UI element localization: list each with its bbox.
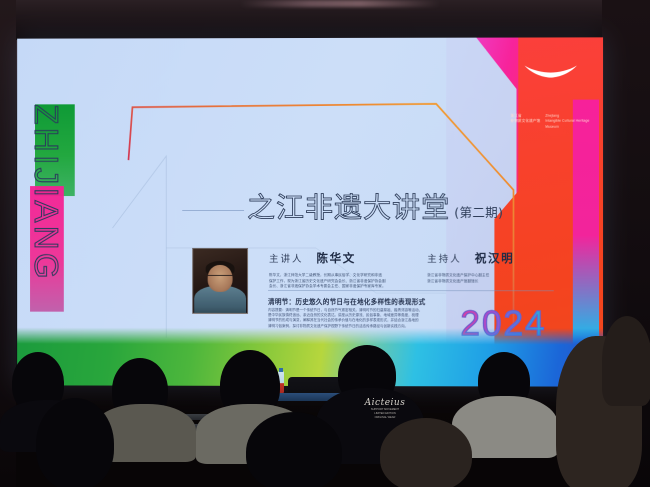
museum-logo-icon xyxy=(523,63,579,81)
title-rule xyxy=(182,210,244,211)
speaker-name: 陈华文 xyxy=(317,250,356,266)
audience-shoulders xyxy=(196,404,308,464)
audience-shoulders xyxy=(92,404,196,462)
audience-head-foreground xyxy=(246,412,342,487)
museum-logo-cn: 浙江省 非物质文化遗产馆 xyxy=(510,114,540,129)
museum-logo-text: 浙江省 非物质文化遗产馆 Zhejiang Intangible Cultura… xyxy=(510,114,586,129)
speaker-portrait xyxy=(192,248,248,314)
projection-screen: ZHIJIANG 浙江省 非物质文化遗产馆 Zhejiang Intangibl… xyxy=(17,37,603,386)
museum-en-line: Intangible Cultural Heritage xyxy=(545,119,589,123)
vertical-wordmark: ZHIJIANG xyxy=(29,100,69,357)
museum-en-line: Zhejiang xyxy=(545,114,589,118)
shirt-sub-line: LIMITED EDITION xyxy=(355,412,415,416)
title-suffix: (第二期) xyxy=(454,202,503,221)
audience-head-foreground xyxy=(380,418,472,487)
audience-head-foreground xyxy=(36,398,114,487)
left-wall xyxy=(0,0,16,487)
speaker-bio: 陈华文，浙江师范大学二级教授，长期从事民俗学、文化学研究和非遗 保护工作，现为浙… xyxy=(269,273,419,290)
museum-en-line: Museum xyxy=(545,124,589,128)
vertical-wordmark-text: ZHIJIANG xyxy=(27,104,65,282)
shirt-sub-line: ORIGINAL WEAR xyxy=(355,416,415,420)
host-heading: 主持人 祝汉明 xyxy=(427,250,568,266)
host-bio-line: 浙江省非物质文化遗产馆副馆长 xyxy=(427,279,568,285)
lecture-hall-scene: ZHIJIANG 浙江省 非物质文化遗产馆 Zhejiang Intangibl… xyxy=(0,0,650,487)
audience-shoulders xyxy=(452,396,558,458)
desk-row xyxy=(430,430,610,438)
speaker-role-label: 主讲人 xyxy=(269,251,303,265)
host-bio: 浙江省非物质文化遗产保护中心副主任 浙江省非物质文化遗产馆副馆长 xyxy=(427,273,568,284)
slide-bottom-color-band xyxy=(17,328,603,387)
host-role-label: 主持人 xyxy=(427,251,462,265)
glasses-icon xyxy=(208,275,233,281)
shirt-sub-line: SUPPORT MOVEMENT xyxy=(355,408,415,412)
museum-cn-line: 浙江省 xyxy=(510,114,540,118)
desk-row xyxy=(16,424,226,432)
museum-logo-en: Zhejiang Intangible Cultural Heritage Mu… xyxy=(545,114,589,129)
speaker-block: 主讲人 陈华文 陈华文，浙江师范大学二级教授，长期从事民俗学、文化学研究和非遗 … xyxy=(269,250,419,290)
shirt-print: Aicteius SUPPORT MOVEMENT LIMITED EDITIO… xyxy=(355,398,415,419)
desk-row xyxy=(175,414,305,420)
ceiling-light-strip xyxy=(240,0,440,7)
speaker-heading: 主讲人 陈华文 xyxy=(269,250,419,266)
museum-cn-line: 非物质文化遗产馆 xyxy=(510,119,540,123)
slide-title-row: 之江非遗大讲堂 (第二期) xyxy=(247,186,503,226)
podium-table-top xyxy=(272,393,382,401)
audience-shoulders xyxy=(316,388,424,464)
topic-title: 清明节：历史悠久的节日与在地化多样性的表现形式 xyxy=(268,296,426,306)
host-name: 祝汉明 xyxy=(475,250,514,266)
host-block: 主持人 祝汉明 浙江省非物质文化遗产保护中心副主任 浙江省非物质文化遗产馆副馆长 xyxy=(427,250,568,284)
page-title: 之江非遗大讲堂 xyxy=(247,186,450,226)
right-wall xyxy=(602,0,650,487)
shirt-script-text: Aicteius xyxy=(355,398,415,408)
